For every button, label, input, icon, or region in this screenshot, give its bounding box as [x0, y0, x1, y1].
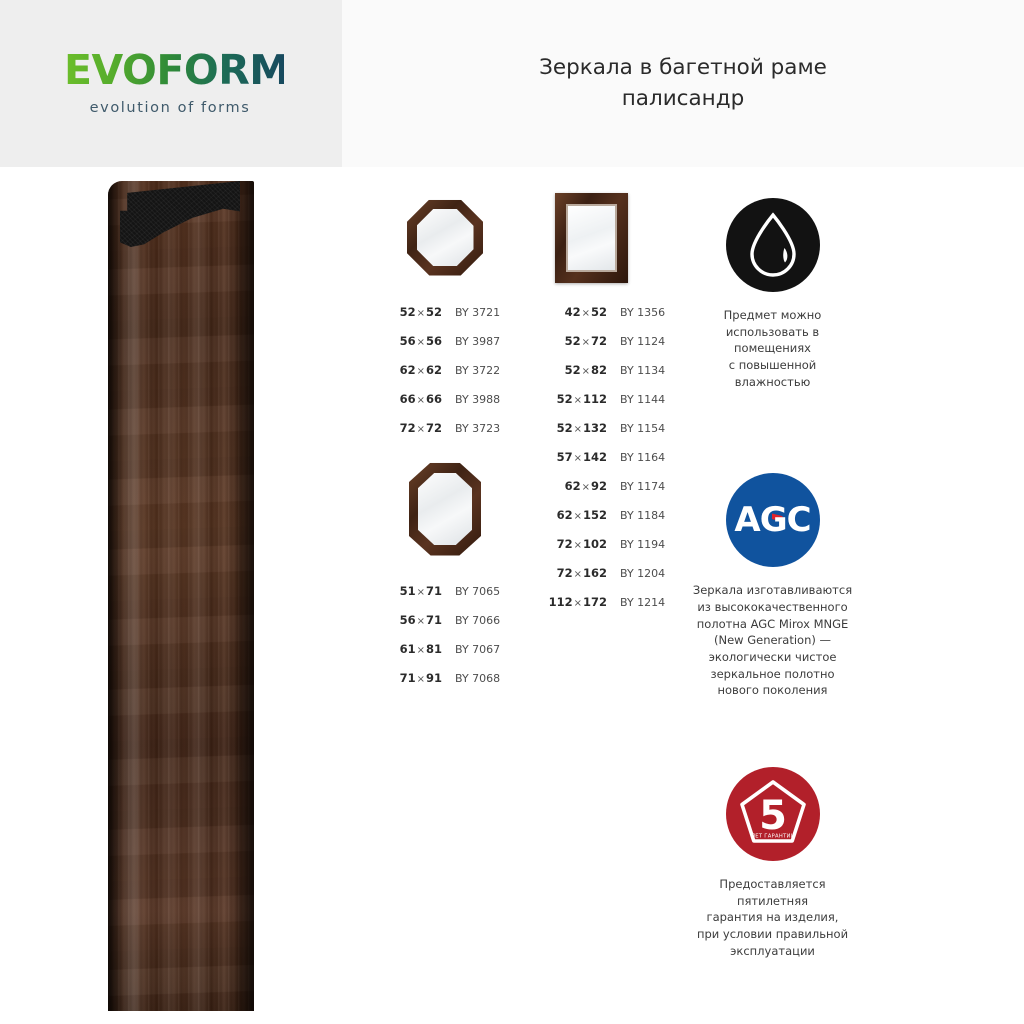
rectangle-bevel — [566, 204, 617, 272]
page-title-line-2: палисандр — [342, 83, 1024, 114]
size-article-code: BY 1174 — [607, 480, 665, 493]
size-article-code: BY 1134 — [607, 364, 665, 377]
column-rectangular-mirrors: 42×52 BY 1356 52×72 BY 1124 52×82 BY 113… — [545, 185, 685, 624]
rectangle-frame — [555, 193, 628, 283]
five-year-warranty-icon: 5 ЛЕТ ГАРАНТИИ — [726, 767, 820, 861]
size-article-code: BY 1184 — [607, 509, 665, 522]
size-dimension: 62×62 — [380, 363, 442, 377]
size-article-code: BY 1214 — [607, 596, 665, 609]
svg-text:5: 5 — [759, 793, 787, 839]
size-article-code: BY 1204 — [607, 567, 665, 580]
size-dimension: 71×91 — [380, 671, 442, 685]
feature-agc-text: Зеркала изготавливаютсяиз высококачестве… — [680, 582, 865, 699]
size-dimension: 62×152 — [545, 508, 607, 522]
size-table-octagon: 52×52 BY 3721 56×56 BY 3987 62×62 BY 372… — [380, 305, 510, 435]
size-article-code: BY 1164 — [607, 451, 665, 464]
size-dimension: 52×112 — [545, 392, 607, 406]
table-row: 52×52 BY 3721 — [380, 305, 510, 319]
water-drop-icon — [726, 198, 820, 292]
size-table-octagon-tall: 51×71 BY 7065 56×71 BY 7066 61×81 BY 706… — [380, 584, 510, 685]
svg-text:ЛЕТ ГАРАНТИИ: ЛЕТ ГАРАНТИИ — [751, 834, 795, 840]
size-article-code: BY 3721 — [442, 306, 500, 319]
size-dimension: 66×66 — [380, 392, 442, 406]
table-row: 112×172 BY 1214 — [545, 595, 685, 609]
size-dimension: 52×82 — [545, 363, 607, 377]
size-article-code: BY 1144 — [607, 393, 665, 406]
size-article-code: BY 1154 — [607, 422, 665, 435]
size-article-code: BY 3987 — [442, 335, 500, 348]
size-article-code: BY 7066 — [442, 614, 500, 627]
size-article-code: BY 1194 — [607, 538, 665, 551]
size-dimension: 112×172 — [545, 595, 607, 609]
feature-warranty-text: Предоставляетсяпятилетняягарантия на изд… — [680, 876, 865, 959]
page-header: EVOFORM evolution of forms Зеркала в баг… — [0, 0, 1024, 167]
size-dimension: 72×162 — [545, 566, 607, 580]
table-row: 42×52 BY 1356 — [545, 305, 685, 319]
logo-tagline: evolution of forms — [64, 100, 276, 116]
size-dimension: 56×71 — [380, 613, 442, 627]
size-dimension: 51×71 — [380, 584, 442, 598]
rectangle-glass — [568, 206, 615, 270]
moulding-right-shadow — [234, 181, 254, 1011]
table-row: 52×72 BY 1124 — [545, 334, 685, 348]
octagon-tall-glass — [418, 473, 472, 545]
size-article-code: BY 1356 — [607, 306, 665, 319]
table-row: 56×71 BY 7066 — [380, 613, 510, 627]
table-row: 62×92 BY 1174 — [545, 479, 685, 493]
table-row: 72×102 BY 1194 — [545, 537, 685, 551]
table-row: 56×56 BY 3987 — [380, 334, 510, 348]
table-row: 62×62 BY 3722 — [380, 363, 510, 377]
table-row: 66×66 BY 3988 — [380, 392, 510, 406]
table-row: 52×132 BY 1154 — [545, 421, 685, 435]
size-dimension: 72×102 — [545, 537, 607, 551]
page-title-line-1: Зеркала в багетной раме — [342, 52, 1024, 83]
octagon-frame — [407, 200, 483, 276]
size-table-rectangle: 42×52 BY 1356 52×72 BY 1124 52×82 BY 113… — [545, 305, 685, 609]
size-dimension: 56×56 — [380, 334, 442, 348]
feature-moisture-resistant: Предмет можноиспользовать впомещенияхс п… — [680, 198, 865, 390]
table-row: 61×81 BY 7067 — [380, 642, 510, 656]
brand-logo: EVOFORM evolution of forms — [64, 50, 284, 120]
size-article-code: BY 7065 — [442, 585, 500, 598]
agc-brand-label: AGC — [734, 500, 810, 540]
size-dimension: 61×81 — [380, 642, 442, 656]
moulding-profile-image — [108, 181, 254, 1011]
size-article-code: BY 7067 — [442, 643, 500, 656]
table-row: 72×72 BY 3723 — [380, 421, 510, 435]
octagon-tall-frame — [409, 463, 481, 556]
table-row: 71×91 BY 7068 — [380, 671, 510, 685]
size-article-code: BY 1124 — [607, 335, 665, 348]
size-dimension: 52×52 — [380, 305, 442, 319]
size-dimension: 57×142 — [545, 450, 607, 464]
table-row: 72×162 BY 1204 — [545, 566, 685, 580]
logo-wordmark: EVOFORM — [64, 50, 284, 91]
mirror-preview-octagon-tall — [380, 450, 510, 568]
size-dimension: 52×132 — [545, 421, 607, 435]
feature-agc-glass: AGC Зеркала изготавливаютсяиз высококаче… — [680, 473, 865, 699]
moulding-left-shadow — [108, 181, 138, 1011]
column-features: Предмет можноиспользовать впомещенияхс п… — [680, 185, 865, 959]
size-dimension: 72×72 — [380, 421, 442, 435]
mirror-preview-octagon — [380, 185, 510, 290]
octagon-glass — [417, 209, 474, 266]
mirror-preview-rectangle — [545, 185, 685, 290]
feature-warranty: 5 ЛЕТ ГАРАНТИИ Предоставляетсяпятилетняя… — [680, 767, 865, 959]
size-article-code: BY 3722 — [442, 364, 500, 377]
size-article-code: BY 3723 — [442, 422, 500, 435]
column-octagon-mirrors: 52×52 BY 3721 56×56 BY 3987 62×62 BY 372… — [380, 185, 510, 700]
table-row: 52×82 BY 1134 — [545, 363, 685, 377]
table-row: 57×142 BY 1164 — [545, 450, 685, 464]
size-dimension: 62×92 — [545, 479, 607, 493]
table-row: 62×152 BY 1184 — [545, 508, 685, 522]
table-row: 52×112 BY 1144 — [545, 392, 685, 406]
product-spec-sheet: EVOFORM evolution of forms Зеркала в баг… — [0, 0, 1024, 1024]
feature-moisture-text: Предмет можноиспользовать впомещенияхс п… — [680, 307, 865, 390]
size-article-code: BY 7068 — [442, 672, 500, 685]
agc-logo-icon: AGC — [726, 473, 820, 567]
size-dimension: 52×72 — [545, 334, 607, 348]
size-article-code: BY 3988 — [442, 393, 500, 406]
page-title: Зеркала в багетной раме палисандр — [342, 52, 1024, 114]
table-row: 51×71 BY 7065 — [380, 584, 510, 598]
size-dimension: 42×52 — [545, 305, 607, 319]
